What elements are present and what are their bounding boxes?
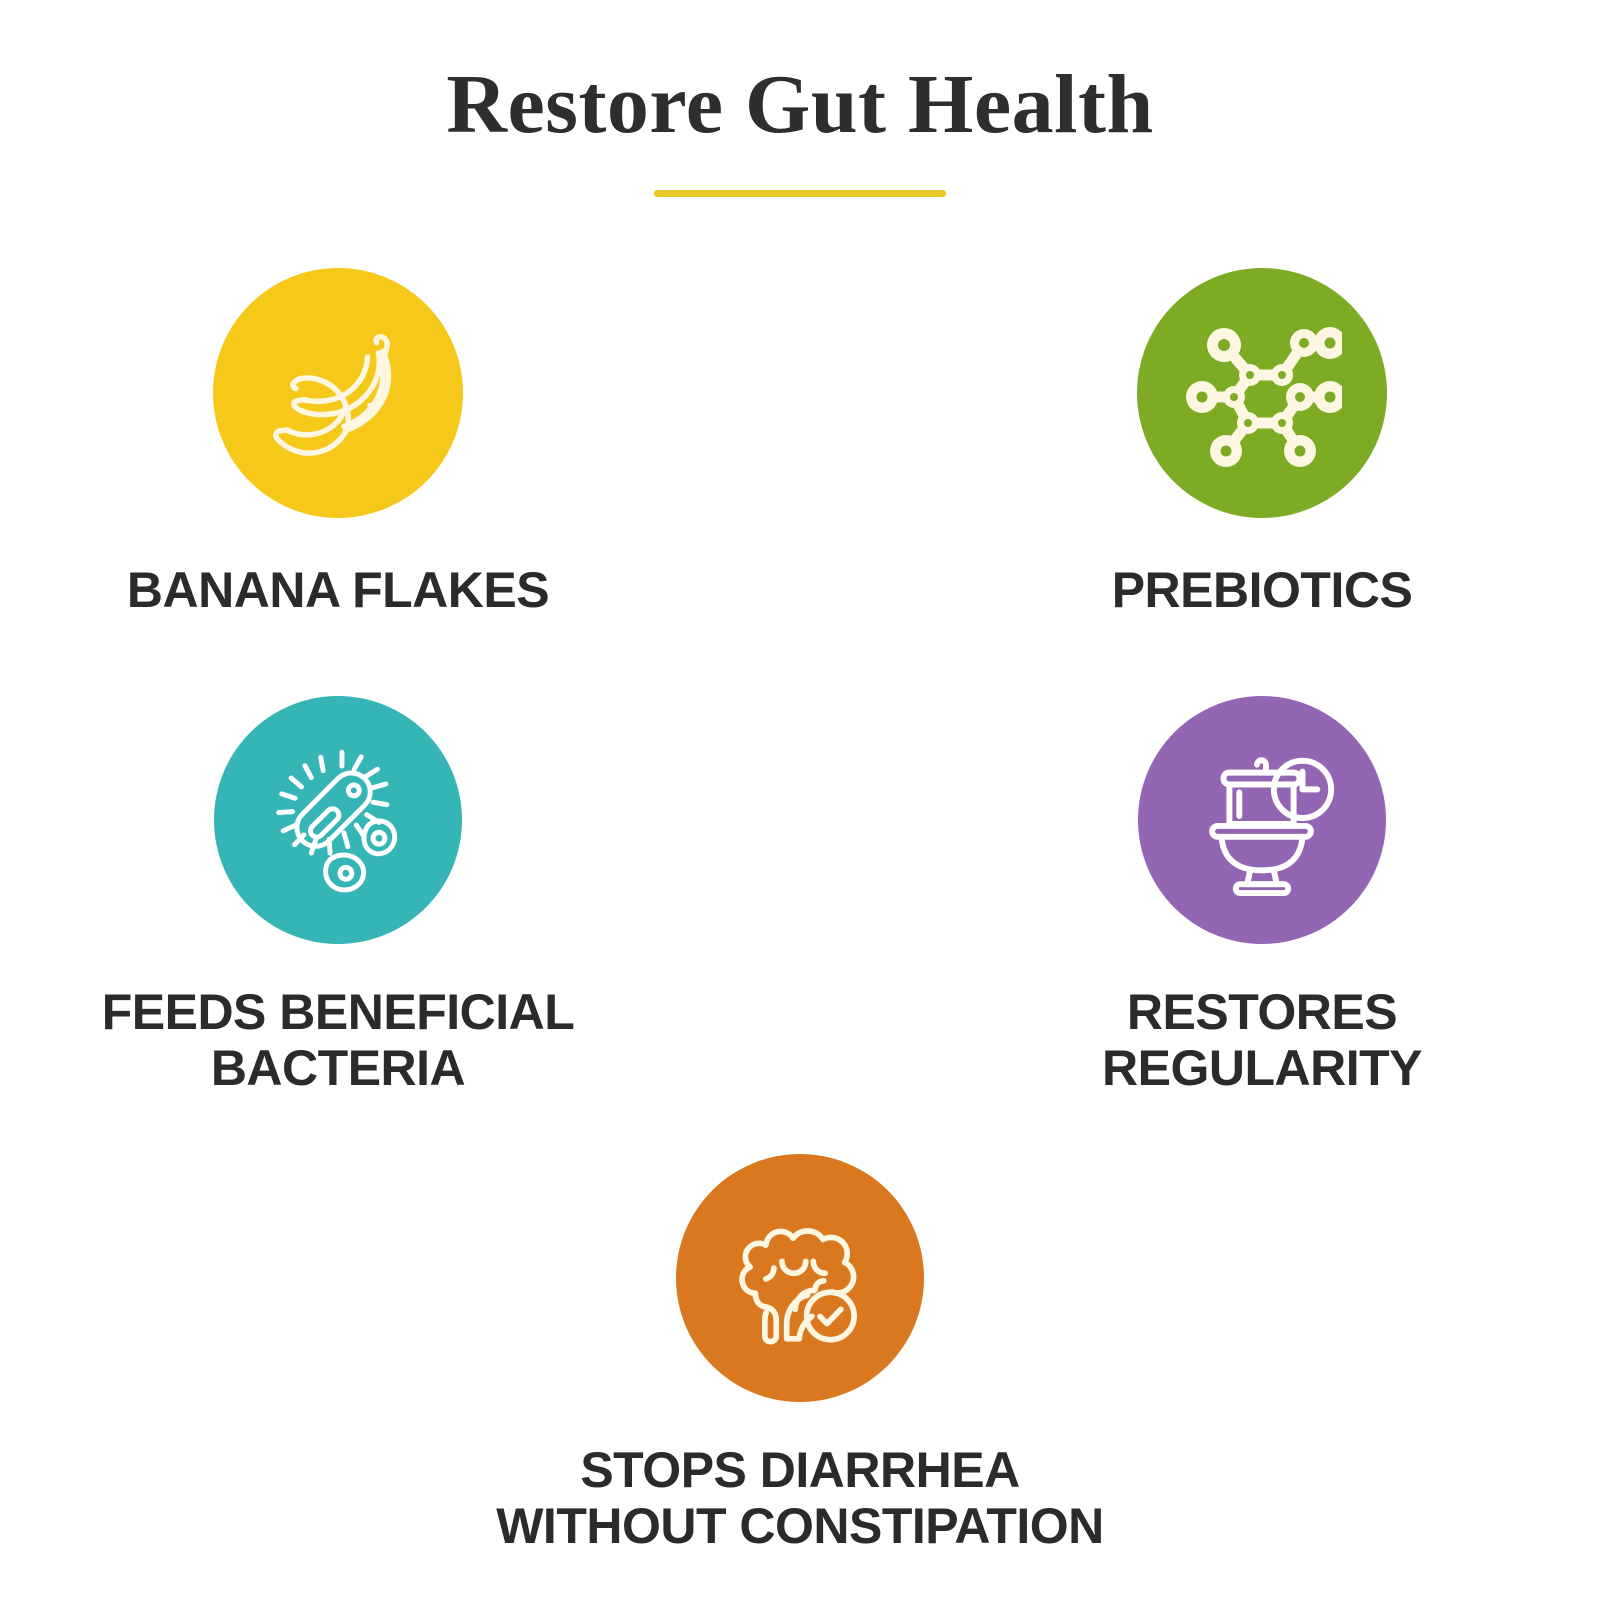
stops-diarrhea-icon-circle: [676, 1154, 924, 1402]
banana-icon: [258, 313, 418, 473]
feature-row-1: BANANA FLAKES: [0, 268, 1600, 618]
intestine-check-icon: [724, 1202, 876, 1354]
title-divider: [654, 190, 946, 197]
toilet-clock-icon: [1183, 741, 1341, 899]
feature-label-banana-flakes: BANANA FLAKES: [127, 562, 549, 618]
banana-flakes-icon-circle: [213, 268, 463, 518]
molecule-network-icon: [1182, 313, 1342, 473]
bacteria-icon-circle: [214, 696, 462, 944]
feature-row-2: FEEDS BENEFICIAL BACTERIA: [0, 696, 1600, 1096]
feature-label-stops-diarrhea: STOPS DIARRHEA WITHOUT CONSTIPATION: [496, 1442, 1104, 1554]
restores-regularity-icon-circle: [1138, 696, 1386, 944]
bacteria-icon: [259, 741, 417, 899]
prebiotics-icon-circle: [1137, 268, 1387, 518]
feature-label-restores-regularity: RESTORES REGULARITY: [1102, 984, 1422, 1096]
feature-feeds-beneficial-bacteria[interactable]: FEEDS BENEFICIAL BACTERIA: [88, 696, 588, 1096]
infographic-page: Restore Gut Health: [0, 0, 1600, 1600]
page-title: Restore Gut Health: [0, 62, 1600, 148]
header: Restore Gut Health: [0, 62, 1600, 197]
feature-label-feeds-beneficial-bacteria: FEEDS BENEFICIAL BACTERIA: [102, 984, 575, 1096]
feature-label-prebiotics: PREBIOTICS: [1112, 562, 1413, 618]
features-grid: BANANA FLAKES: [0, 268, 1600, 1554]
feature-banana-flakes[interactable]: BANANA FLAKES: [88, 268, 588, 618]
feature-restores-regularity[interactable]: RESTORES REGULARITY: [1012, 696, 1512, 1096]
feature-stops-diarrhea[interactable]: STOPS DIARRHEA WITHOUT CONSTIPATION: [390, 1154, 1210, 1554]
feature-prebiotics[interactable]: PREBIOTICS: [1012, 268, 1512, 618]
feature-row-3: STOPS DIARRHEA WITHOUT CONSTIPATION: [0, 1154, 1600, 1554]
